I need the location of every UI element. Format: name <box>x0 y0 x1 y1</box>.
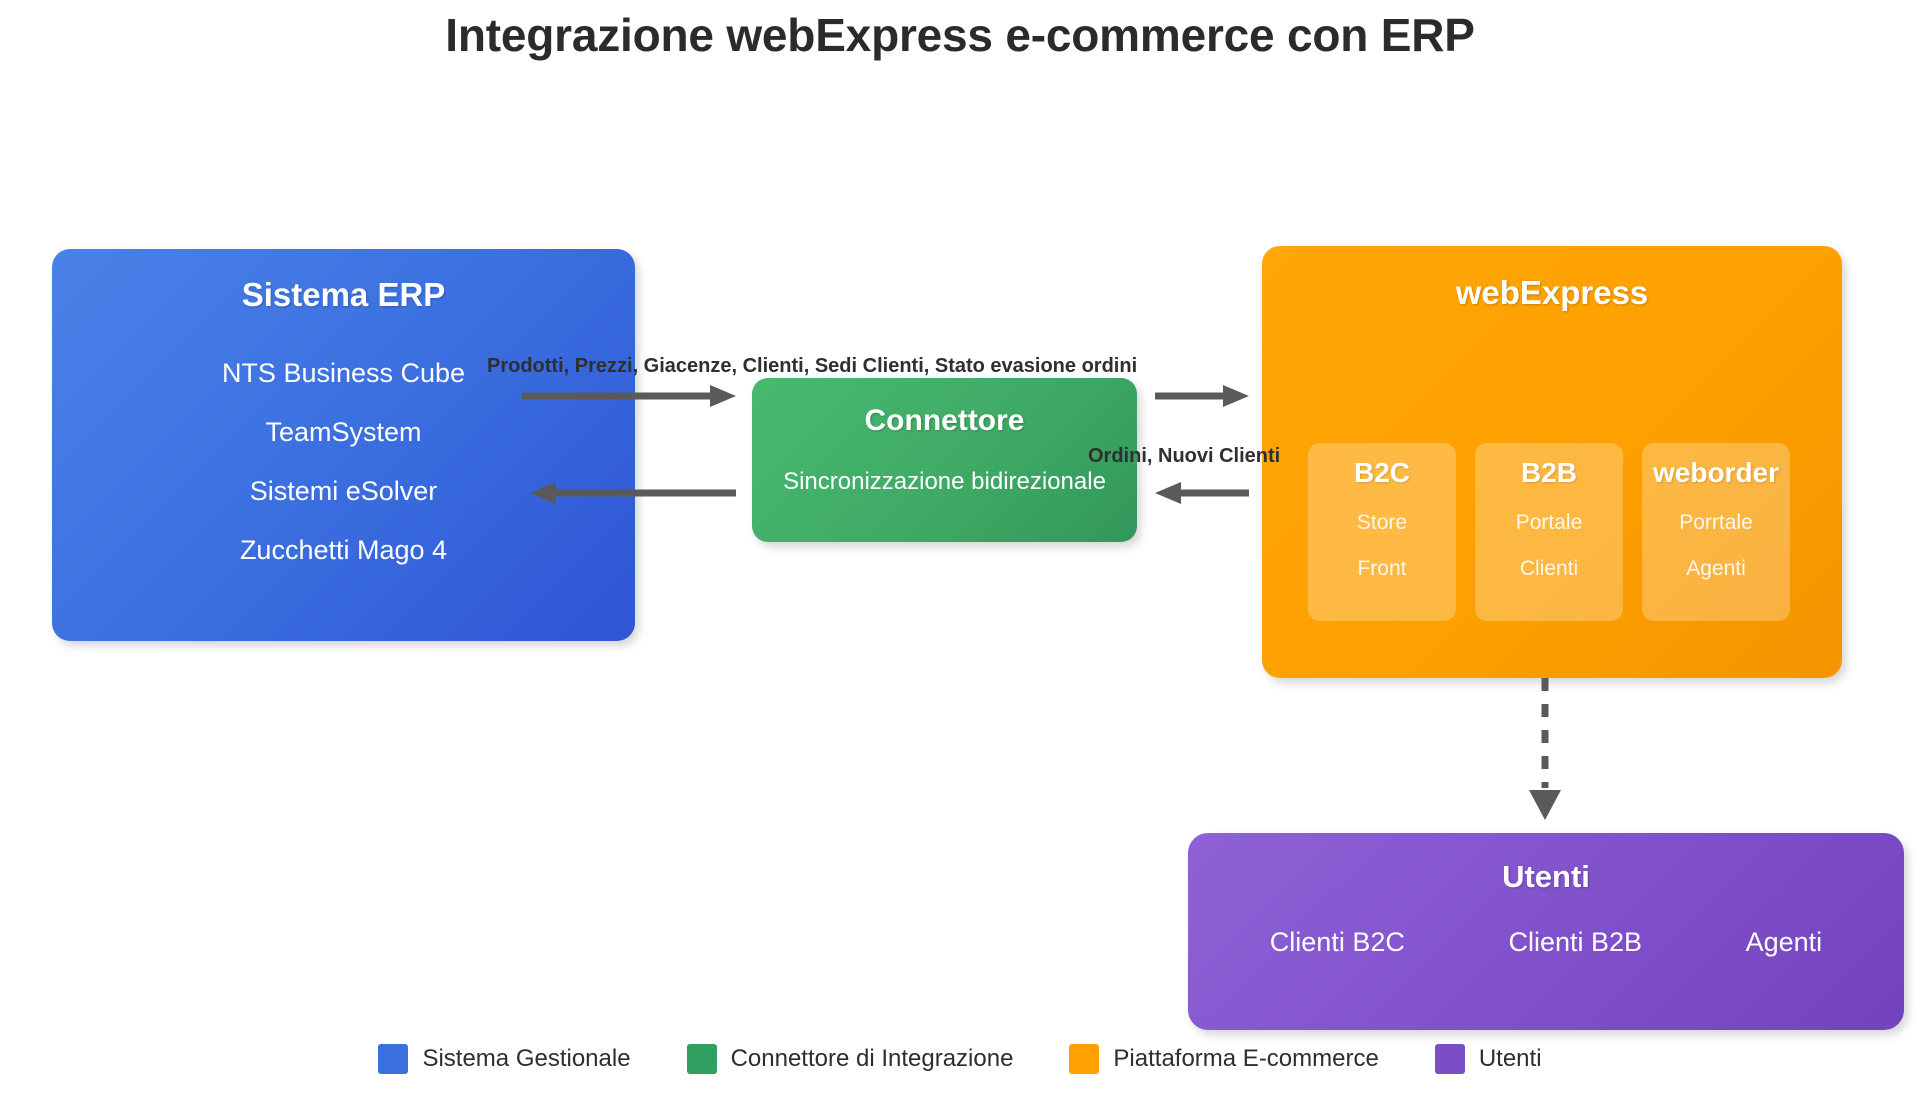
subcard-line-2: Front <box>1308 557 1456 581</box>
users-list-item: Clienti B2C <box>1270 927 1405 958</box>
erp-system-box: Sistema ERP NTS Business Cube TeamSystem… <box>52 249 635 641</box>
legend-item-connettore: Connettore di Integrazione <box>687 1044 1014 1074</box>
subcard-line-2: Clienti <box>1475 557 1623 581</box>
subcard-line-1: Porrtale <box>1642 511 1790 535</box>
subcard-title: B2C <box>1308 457 1456 489</box>
legend-item-piattaforma-ecommerce: Piattaforma E-commerce <box>1069 1044 1378 1074</box>
legend: Sistema Gestionale Connettore di Integra… <box>0 1044 1920 1074</box>
arrow-connector-to-webexpress <box>1155 381 1253 411</box>
users-box: Utenti Clienti B2C Clienti B2B Agenti <box>1188 833 1904 1030</box>
legend-swatch-icon <box>378 1044 408 1074</box>
arrow-webexpress-to-connector <box>1155 478 1253 508</box>
legend-label: Sistema Gestionale <box>422 1045 630 1073</box>
connector-box-title: Connettore <box>752 404 1137 438</box>
connector-subtitle: Sincronizzazione bidirezionale <box>752 468 1137 496</box>
subcard-line-1: Portale <box>1475 511 1623 535</box>
erp-list-item: Zucchetti Mago 4 <box>52 535 635 566</box>
connector-box: Connettore Sincronizzazione bidirezional… <box>752 378 1137 542</box>
arrow-webexpress-to-users-dashed <box>1525 678 1565 836</box>
webexpress-box: webExpress B2C Store Front B2B Portale C… <box>1262 246 1842 678</box>
legend-swatch-icon <box>687 1044 717 1074</box>
diagram-canvas: Integrazione webExpress e-commerce con E… <box>0 0 1920 1112</box>
users-item-row: Clienti B2C Clienti B2B Agenti <box>1188 927 1904 958</box>
legend-item-sistema-gestionale: Sistema Gestionale <box>378 1044 630 1074</box>
legend-item-utenti: Utenti <box>1435 1044 1542 1074</box>
arrow-connector-to-erp <box>530 478 740 508</box>
legend-label: Piattaforma E-commerce <box>1113 1045 1378 1073</box>
flow-label-webexpress-to-erp: Ordini, Nuovi Clienti <box>1088 445 1280 468</box>
users-box-title: Utenti <box>1188 859 1904 895</box>
subcard-b2c: B2C Store Front <box>1308 443 1456 621</box>
page-title: Integrazione webExpress e-commerce con E… <box>0 8 1920 62</box>
erp-list-item: TeamSystem <box>52 417 635 448</box>
subcard-title: weborder <box>1642 457 1790 489</box>
subcard-b2b: B2B Portale Clienti <box>1475 443 1623 621</box>
subcard-line-2: Agenti <box>1642 557 1790 581</box>
webexpress-subcard-group: B2C Store Front B2B Portale Clienti webo… <box>1308 443 1790 621</box>
arrow-erp-to-connector <box>522 381 742 411</box>
erp-box-title: Sistema ERP <box>52 276 635 314</box>
webexpress-box-title: webExpress <box>1262 274 1842 312</box>
legend-label: Connettore di Integrazione <box>731 1045 1014 1073</box>
flow-label-erp-to-webexpress: Prodotti, Prezzi, Giacenze, Clienti, Sed… <box>487 355 1137 378</box>
legend-swatch-icon <box>1435 1044 1465 1074</box>
subcard-title: B2B <box>1475 457 1623 489</box>
users-list-item: Agenti <box>1746 927 1823 958</box>
subcard-weborder: weborder Porrtale Agenti <box>1642 443 1790 621</box>
legend-label: Utenti <box>1479 1045 1542 1073</box>
legend-swatch-icon <box>1069 1044 1099 1074</box>
subcard-line-1: Store <box>1308 511 1456 535</box>
users-list-item: Clienti B2B <box>1508 927 1642 958</box>
